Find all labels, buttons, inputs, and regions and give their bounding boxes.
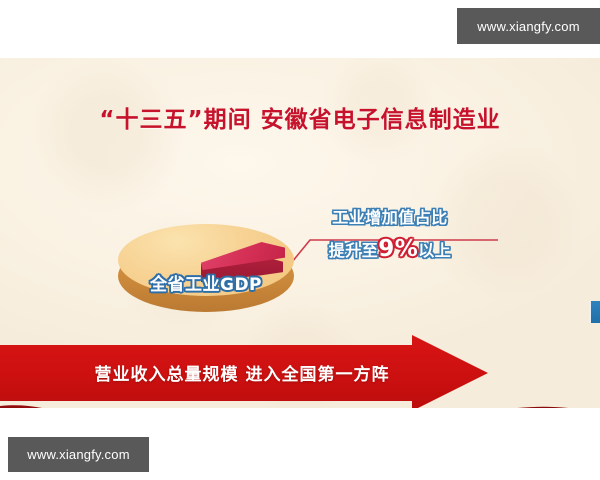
poster-headline: “十三五”期间 安徽省电子信息制造业 <box>0 100 600 134</box>
page-canvas: “十三五”期间 安徽省电子信息制造业 全省工业GDP 工业增加值占比 提升至9%… <box>0 0 600 480</box>
infographic-image: “十三五”期间 安徽省电子信息制造业 全省工业GDP 工业增加值占比 提升至9%… <box>0 58 600 408</box>
callout-suffix: 以上 <box>418 241 451 260</box>
silk-ribbon <box>0 398 600 408</box>
arrow-banner-text: 营业收入总量规模 进入全国第一方阵 <box>72 360 412 385</box>
watermark-bottom-left: www.xiangfy.com <box>8 437 149 472</box>
callout-highlight: 9% <box>378 236 418 262</box>
pie-chart: 全省工业GDP <box>118 224 294 324</box>
callout-line-1: 工业增加值占比 <box>300 204 480 228</box>
watermark-top-right: www.xiangfy.com <box>457 8 600 44</box>
callout-prefix: 提升至 <box>329 241 379 260</box>
callout-line-2: 提升至9%以上 <box>300 236 480 262</box>
callout-block: 工业增加值占比 提升至9%以上 <box>300 204 480 262</box>
edge-blue-chip <box>589 301 600 323</box>
pie-label: 全省工业GDP <box>118 270 294 295</box>
